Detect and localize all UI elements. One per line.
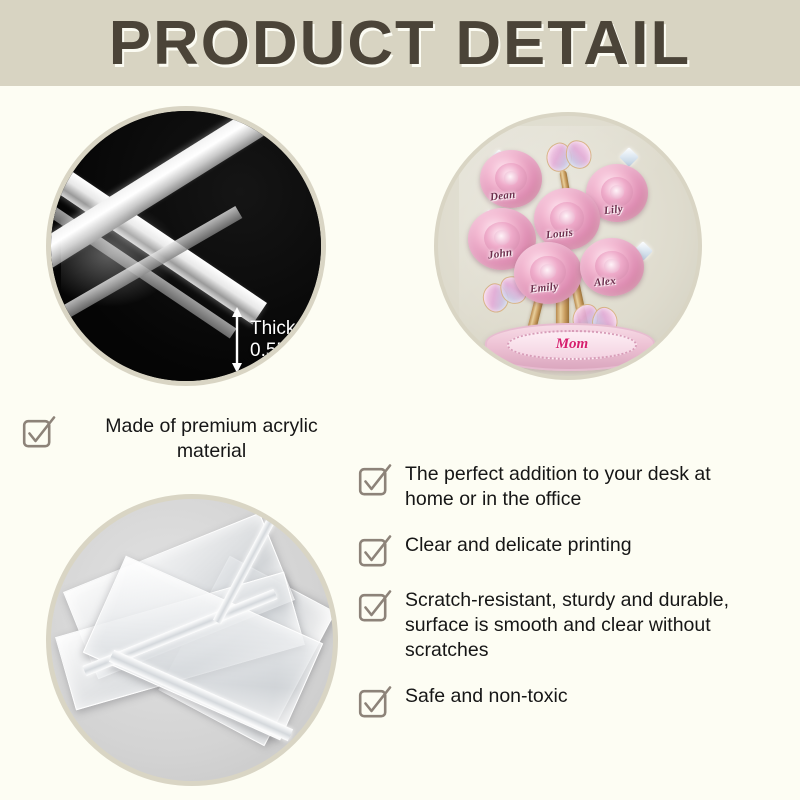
rose-alex — [580, 238, 644, 296]
name-tag-alex: Alex — [593, 275, 616, 289]
rose-louis — [534, 188, 600, 250]
thickness-label-line2: 0.55 in — [250, 340, 326, 362]
feature-desk-addition: The perfect addition to your desk at hom… — [358, 462, 758, 512]
ornament-base: Mom — [485, 323, 655, 371]
feature-clear-printing: Clear and delicate printing — [358, 533, 758, 568]
checked-checkbox-icon — [358, 589, 392, 623]
feature-scratch-resistant: Scratch-resistant, sturdy and durable, s… — [358, 588, 758, 663]
checked-checkbox-icon — [358, 534, 392, 568]
feature-label: Made of premium acrylic material — [69, 414, 354, 464]
butterfly-top — [544, 139, 594, 175]
feature-non-toxic: Safe and non-toxic — [358, 684, 758, 719]
name-tag-lily: Lily — [603, 203, 623, 217]
rose-ornament-circle: Dean Lily Louis John Emily Alex Mom — [434, 112, 702, 380]
page-title: PRODUCT DETAIL — [0, 0, 800, 86]
checked-checkbox-icon — [358, 685, 392, 719]
base-label-mom: Mom — [556, 336, 589, 353]
thickness-label: Thickness 0.55 in — [250, 318, 326, 363]
feature-label: Clear and delicate printing — [405, 533, 632, 558]
rose-emily — [514, 242, 582, 304]
acrylic-highlight-glow — [61, 199, 181, 309]
thickness-label-line1: Thickness — [250, 318, 326, 340]
acrylic-sheets-circle — [46, 494, 338, 786]
ornament-stage: Dean Lily Louis John Emily Alex Mom — [438, 116, 698, 376]
product-detail-page: PRODUCT DETAIL Thickness 0.55 in — [0, 0, 800, 800]
checked-checkbox-icon — [22, 415, 56, 449]
feature-label: The perfect addition to your desk at hom… — [405, 462, 758, 512]
double-arrow-vertical-icon — [231, 307, 243, 373]
ornament-base-plaque: Mom — [507, 330, 637, 360]
checked-checkbox-icon — [358, 463, 392, 497]
feature-label: Scratch-resistant, sturdy and durable, s… — [405, 588, 758, 663]
thickness-closeup-circle: Thickness 0.55 in — [46, 106, 326, 386]
feature-label: Safe and non-toxic — [405, 684, 568, 709]
thickness-callout: Thickness 0.55 in — [231, 307, 326, 373]
feature-premium-acrylic: Made of premium acrylic material — [22, 414, 362, 464]
